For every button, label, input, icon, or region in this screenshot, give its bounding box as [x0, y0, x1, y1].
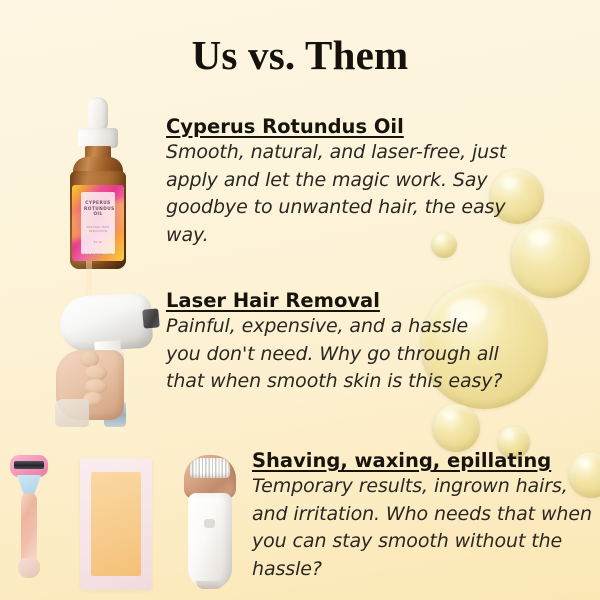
sleeve-cuff [55, 399, 89, 427]
bottle-label-panel: CYPERUS ROTUNDUS OIL NATURAL HAIR REDUCT… [81, 192, 115, 254]
bottle-label-line1: CYPERUS [84, 201, 112, 207]
dropper-bulb [88, 97, 108, 131]
page-title: Us vs. Them [0, 31, 600, 79]
epilator-image [182, 453, 238, 591]
block-heading-other: Shaving, waxing, epillating [252, 448, 594, 473]
epilator-base [196, 581, 224, 589]
cyperus-rotundus-oil-bottle-image: CYPERUS ROTUNDUS OIL NATURAL HAIR REDUCT… [63, 97, 133, 271]
block-heading-oil: Cyperus Rotundus Oil [166, 114, 514, 139]
epilator-power-button [204, 519, 215, 528]
infographic-canvas: Us vs. Them CYPERUS ROTUNDUS OIL NATURAL… [0, 0, 600, 600]
laser-emitter-tip [142, 308, 160, 328]
razor-blade [14, 461, 44, 469]
bottle-label-volume: 30 ml [84, 240, 112, 244]
epilator-body [188, 493, 232, 589]
epilator-tweezer-discs [190, 458, 230, 478]
oil-droplet-icon [432, 404, 480, 452]
bottle-label: CYPERUS ROTUNDUS OIL NATURAL HAIR REDUCT… [72, 185, 124, 261]
razor-base [18, 558, 40, 578]
block-body-oil: Smooth, natural, and laser-free, just ap… [166, 139, 514, 249]
comparison-block-oil: Cyperus Rotundus Oil Smooth, natural, an… [166, 114, 514, 249]
bottle-label-line3: OIL [84, 212, 112, 218]
wax-strip-image [80, 458, 152, 590]
comparison-block-other: Shaving, waxing, epillating Temporary re… [252, 448, 594, 583]
bottle-label-footer: FOR EXTERNAL USE ONLY [84, 253, 112, 260]
block-heading-laser: Laser Hair Removal [166, 288, 504, 313]
wax-strip-wax [91, 472, 141, 576]
laser-hair-removal-handpiece-image [55, 287, 167, 427]
dropper-collar [78, 128, 118, 148]
block-body-laser: Painful, expensive, and a hassle you don… [166, 313, 504, 396]
razor-image [8, 455, 50, 580]
razor-handle [21, 493, 37, 565]
oil-droplet-icon [510, 218, 590, 298]
block-body-other: Temporary results, ingrown hairs, and ir… [252, 473, 594, 583]
bottle-label-subtext: NATURAL HAIR REDUCTION [84, 225, 112, 233]
comparison-block-laser: Laser Hair Removal Painful, expensive, a… [166, 288, 504, 396]
